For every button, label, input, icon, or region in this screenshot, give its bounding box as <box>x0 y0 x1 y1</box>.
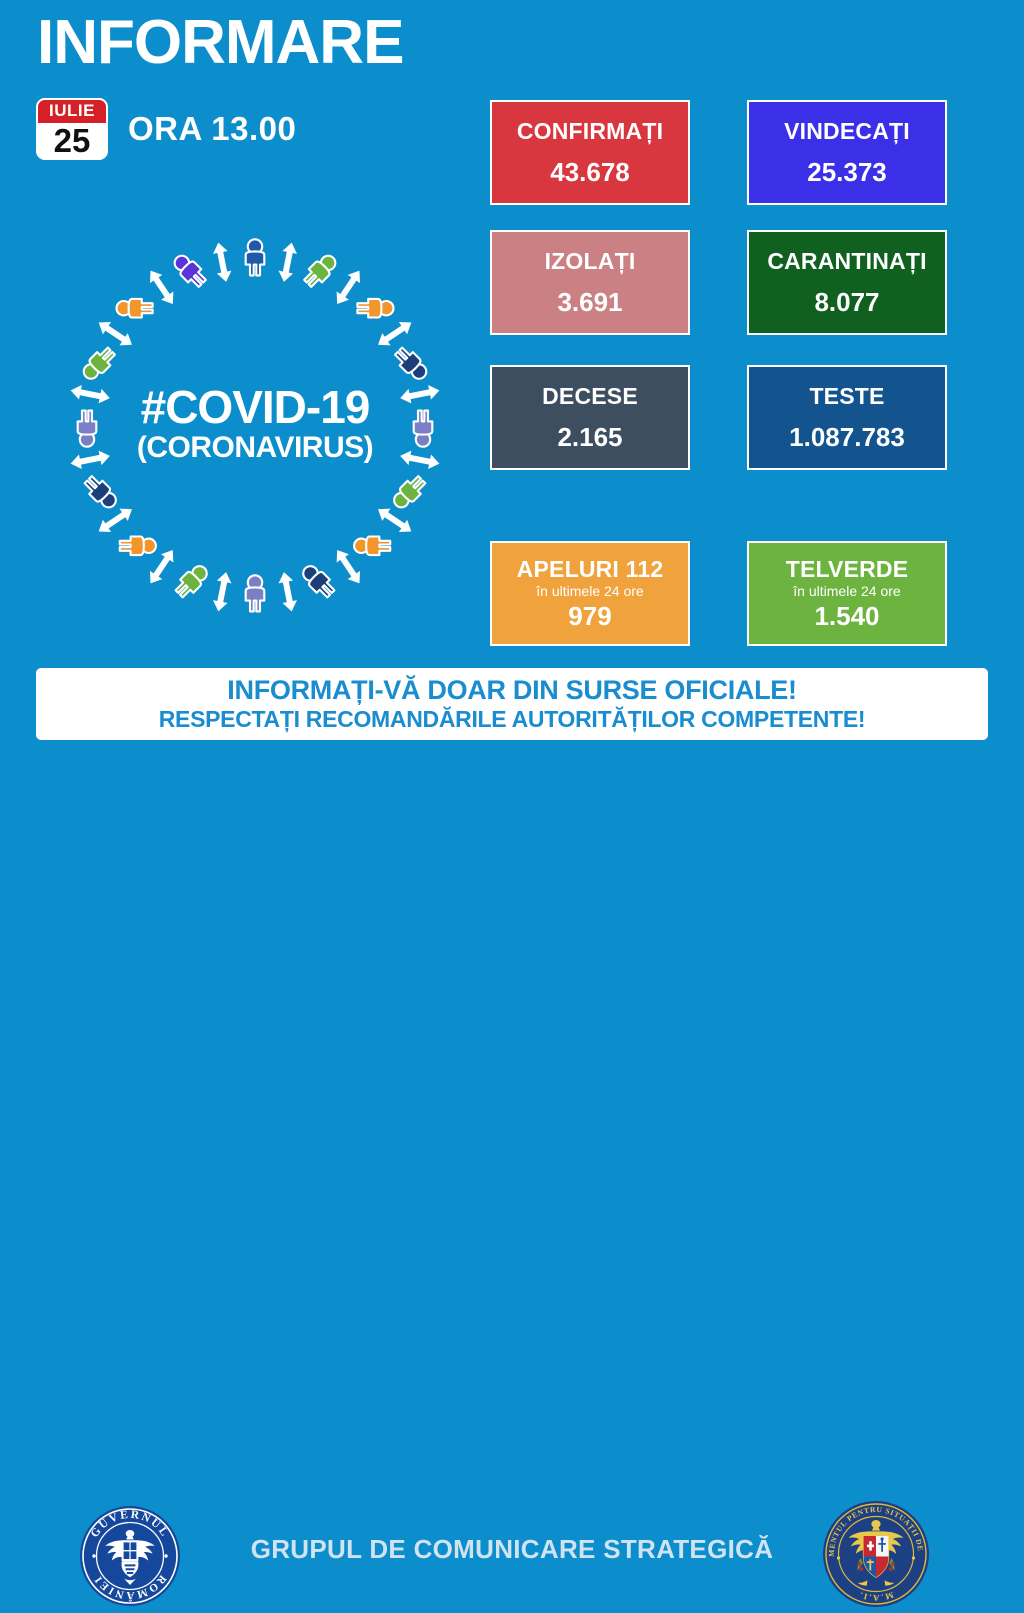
stat-label-vindecati: VINDECAȚI <box>784 119 910 144</box>
stat-value-apeluri-112: 979 <box>568 602 611 631</box>
stat-card-carantinati: CARANTINAȚI 8.077 <box>747 230 947 335</box>
stat-value-decese: 2.165 <box>557 423 622 452</box>
people-circle-icon <box>40 212 470 642</box>
calendar-month-label: IULIE <box>38 100 106 123</box>
stat-card-vindecati: VINDECAȚI 25.373 <box>747 100 947 205</box>
people-circle-illustration: #COVID-19 (CORONAVIRUS) <box>40 212 470 642</box>
time-label: ORA 13.00 <box>128 110 296 148</box>
stat-card-confirmati: CONFIRMAȚI 43.678 <box>490 100 690 205</box>
stat-card-apeluri-112: APELURI 112 în ultimele 24 ore 979 <box>490 541 690 646</box>
official-sources-banner: INFORMAȚI-VĂ DOAR DIN SURSE OFICIALE! RE… <box>36 668 988 740</box>
stat-label-izolati: IZOLAȚI <box>545 249 636 274</box>
stat-label-telverde: TELVERDE <box>786 557 909 582</box>
calendar-icon: IULIE 25 <box>36 98 108 160</box>
stat-card-telverde: TELVERDE în ultimele 24 ore 1.540 <box>747 541 947 646</box>
calendar-day-label: 25 <box>38 123 106 158</box>
stat-label-confirmati: CONFIRMAȚI <box>517 119 663 144</box>
stat-label-carantinati: CARANTINAȚI <box>767 249 926 274</box>
stat-card-decese: DECESE 2.165 <box>490 365 690 470</box>
footer: GUVERNUL ROMÂNIEI <box>0 748 1024 860</box>
stat-value-izolati: 3.691 <box>557 288 622 317</box>
dsu-mai-seal-icon: DEPARTAMENTUL PENTRU SITUAȚII DE URGENȚĂ… <box>822 1500 930 1608</box>
stat-value-confirmati: 43.678 <box>550 158 630 187</box>
stat-note-telverde: în ultimele 24 ore <box>793 583 900 600</box>
stat-value-teste: 1.087.783 <box>789 423 905 452</box>
date-time-row: IULIE 25 ORA 13.00 <box>36 98 296 160</box>
stat-note-apeluri-112: în ultimele 24 ore <box>536 583 643 600</box>
stat-value-carantinati: 8.077 <box>814 288 879 317</box>
stat-card-teste: TESTE 1.087.783 <box>747 365 947 470</box>
stat-card-izolati: IZOLAȚI 3.691 <box>490 230 690 335</box>
banner-line-2: RESPECTAȚI RECOMANDĂRILE AUTORITĂȚILOR C… <box>159 706 866 732</box>
stat-label-teste: TESTE <box>809 384 884 409</box>
stat-label-apeluri-112: APELURI 112 <box>517 557 664 582</box>
stat-label-decese: DECESE <box>542 384 638 409</box>
stat-value-telverde: 1.540 <box>814 602 879 631</box>
banner-line-1: INFORMAȚI-VĂ DOAR DIN SURSE OFICIALE! <box>227 675 796 706</box>
page-title: INFORMARE <box>37 12 403 74</box>
stat-value-vindecati: 25.373 <box>807 158 887 187</box>
